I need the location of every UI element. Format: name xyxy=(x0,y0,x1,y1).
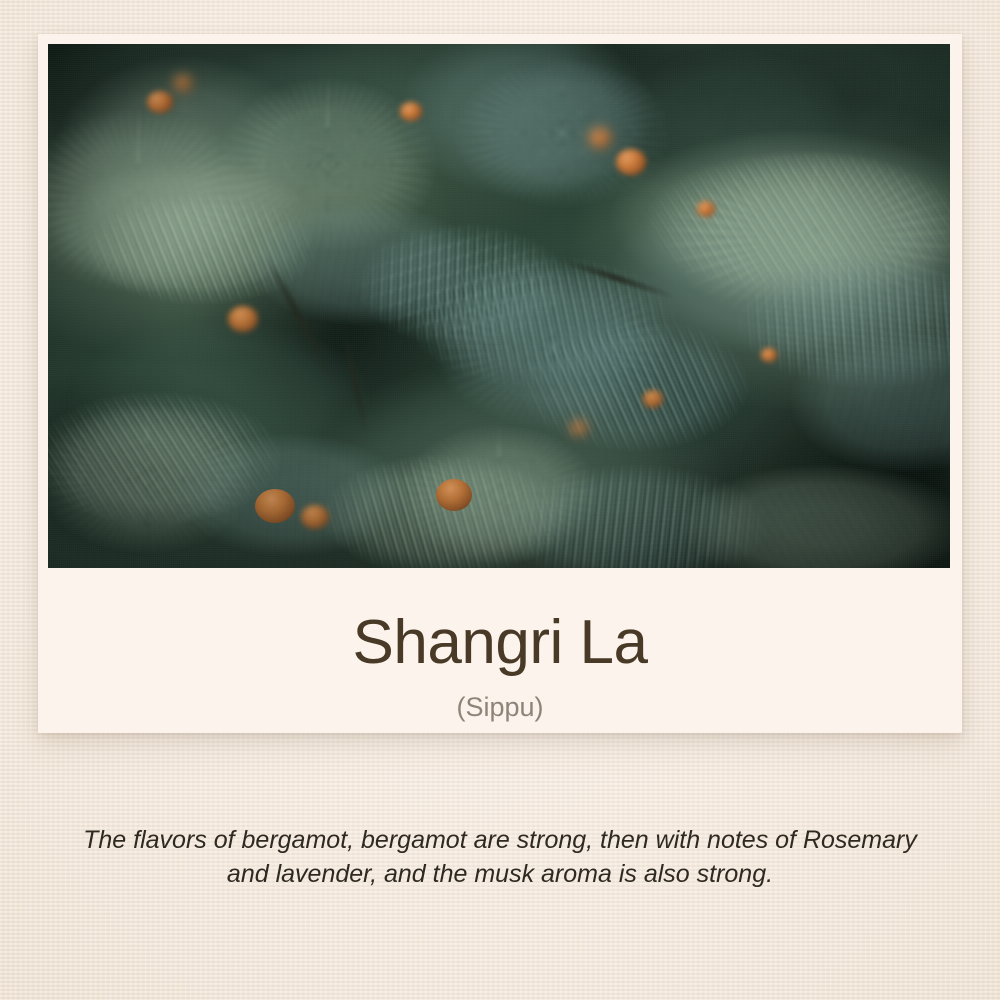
fragrance-card: Shangri La (Sippu) xyxy=(38,34,962,733)
conifer-branch-photo xyxy=(48,44,950,568)
card-caption-area: Shangri La (Sippu) xyxy=(38,568,962,733)
photo-grain xyxy=(48,44,950,568)
description-text: The flavors of bergamot, bergamot are st… xyxy=(80,824,920,892)
page-title: Shangri La xyxy=(38,568,962,674)
page-background: Shangri La (Sippu) The flavors of bergam… xyxy=(0,0,1000,1000)
card-subtitle: (Sippu) xyxy=(38,674,962,721)
